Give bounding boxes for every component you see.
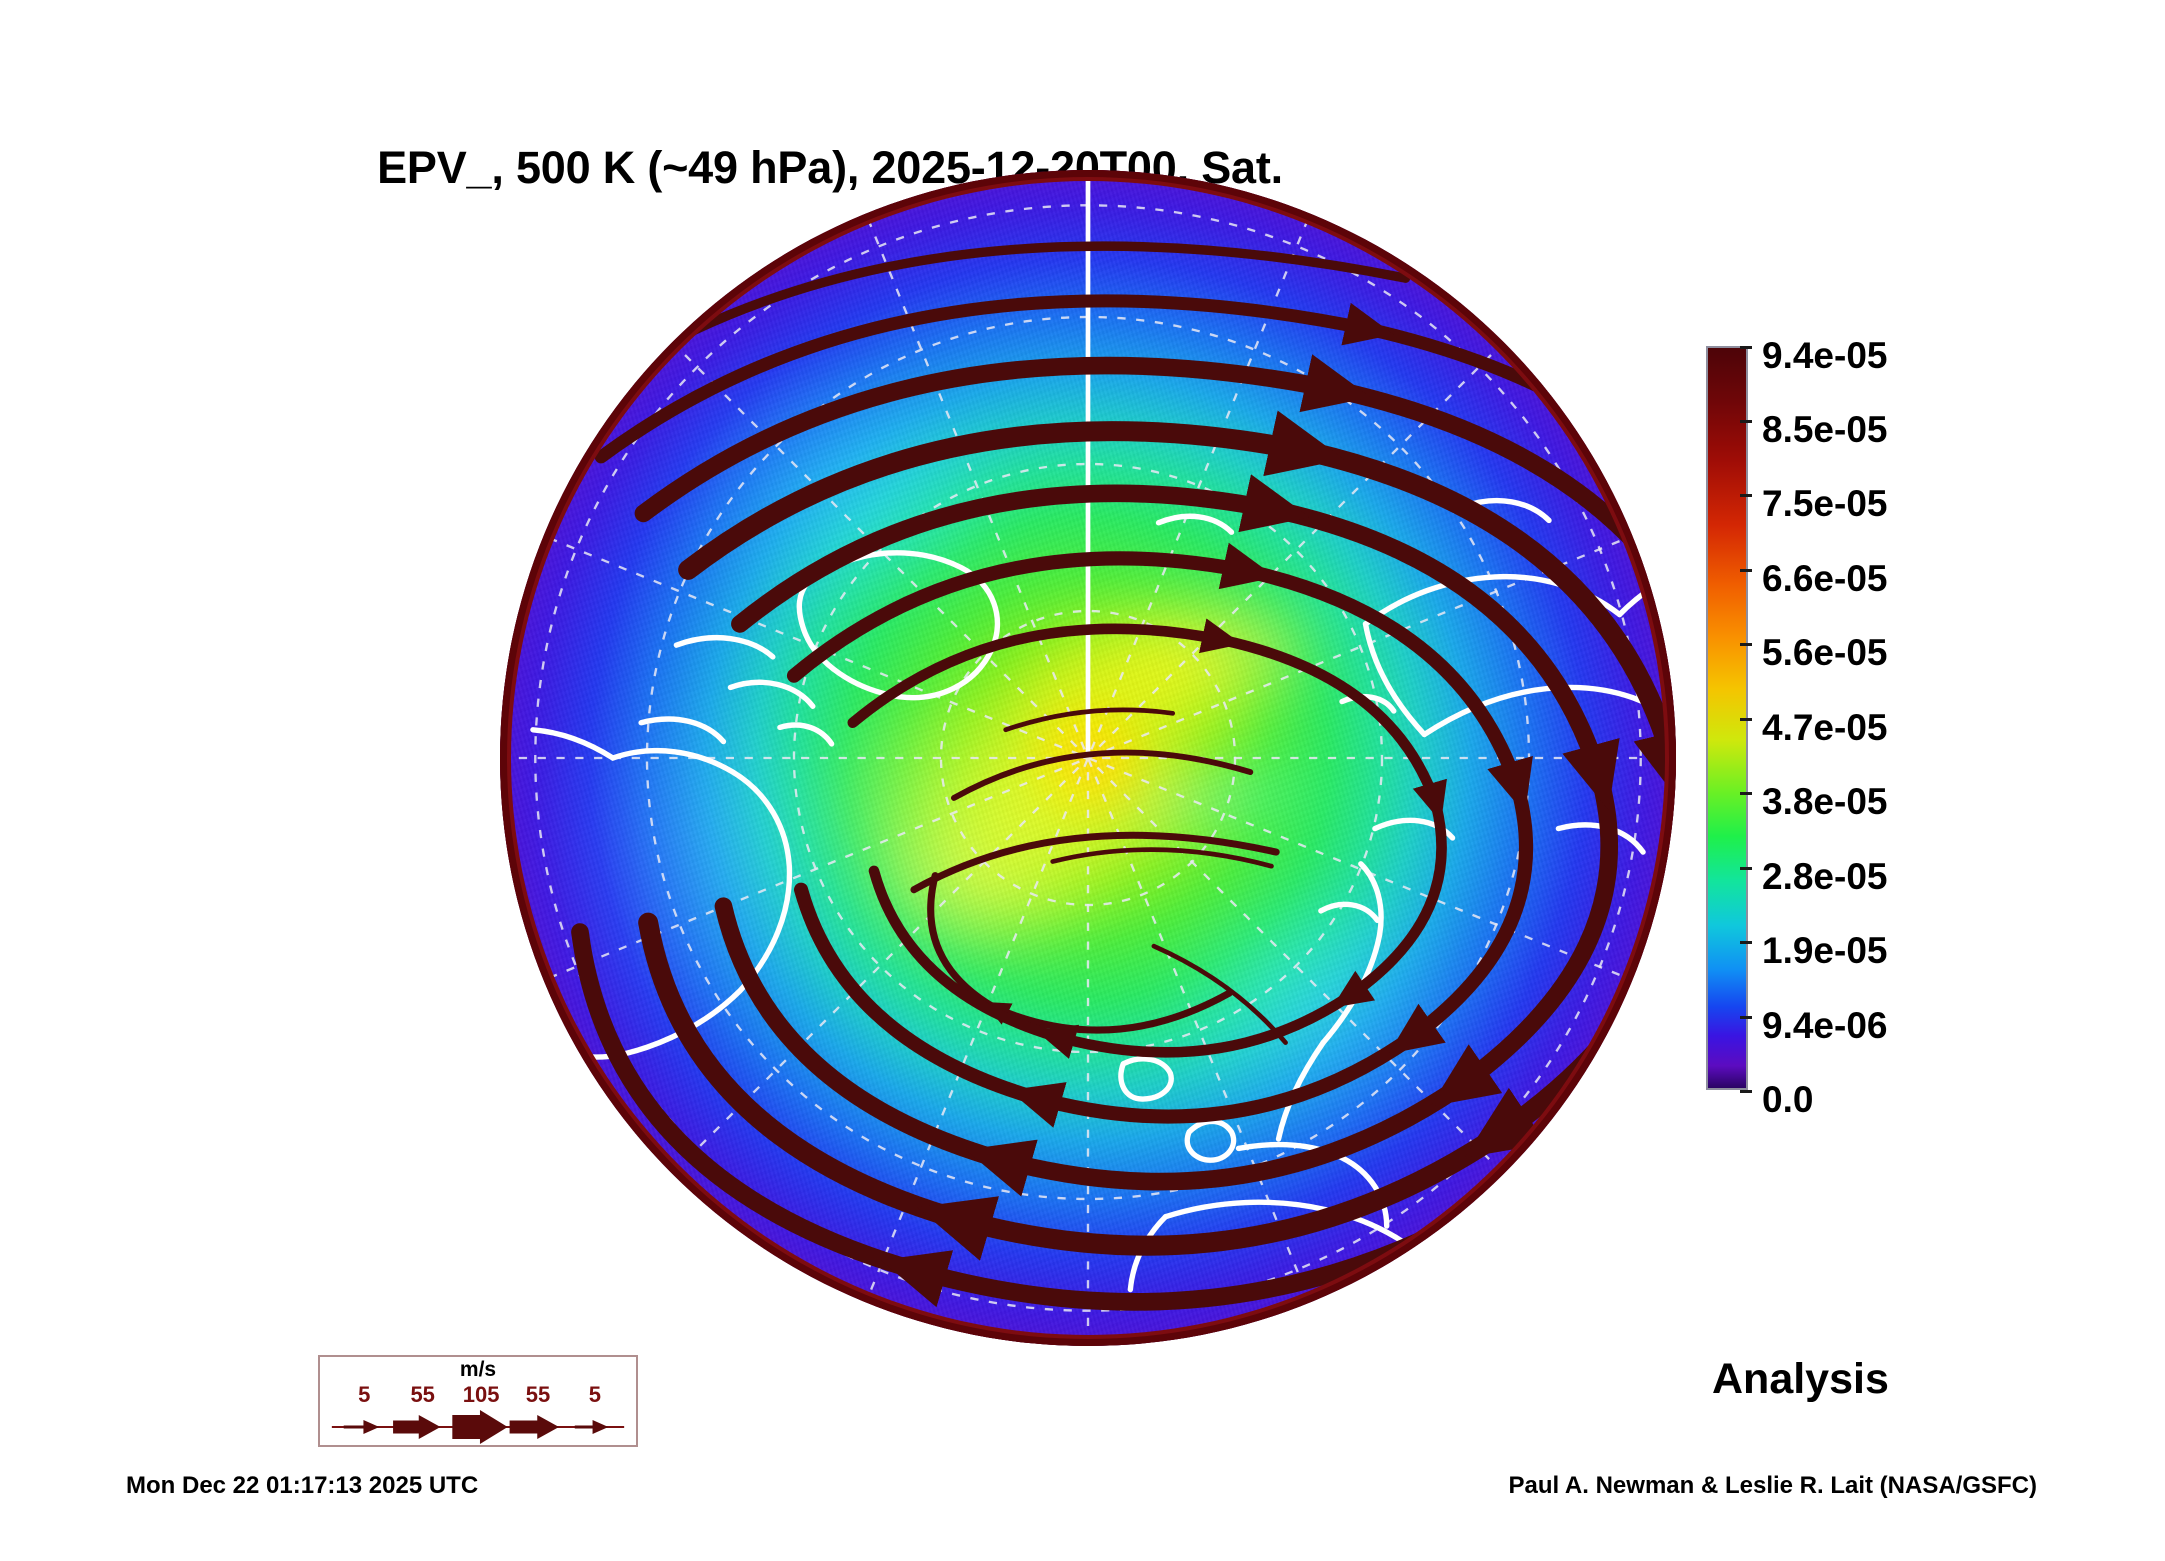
colorbar-tick <box>1740 867 1752 870</box>
colorbar-tick <box>1740 346 1752 349</box>
wind-streamlines <box>547 246 1676 1346</box>
colorbar-label: 2.8e-05 <box>1762 856 1888 898</box>
wind-legend-unit-label: m/s <box>320 1358 636 1382</box>
colorbar-tick <box>1740 643 1752 646</box>
polar-map-panel <box>500 170 1676 1346</box>
wind-legend-arrow-scale <box>320 1409 636 1445</box>
wind-legend-value: 105 <box>463 1382 500 1408</box>
wind-legend-value: 5 <box>589 1382 601 1408</box>
generation-timestamp: Mon Dec 22 01:17:13 2025 UTC <box>126 1472 478 1500</box>
colorbar-tick <box>1740 1090 1752 1093</box>
wind-legend-value: 55 <box>410 1382 434 1408</box>
colorbar-label: 0.0 <box>1762 1079 1813 1121</box>
colorbar-tick <box>1740 718 1752 721</box>
colorbar-label: 1.9e-05 <box>1762 930 1888 972</box>
colorbar-label: 4.7e-05 <box>1762 707 1888 749</box>
colorbar-tick <box>1740 792 1752 795</box>
colorbar-label: 8.5e-05 <box>1762 409 1888 451</box>
analysis-label: Analysis <box>1712 1355 1889 1404</box>
colorbar-tick <box>1740 1016 1752 1019</box>
wind-legend-value: 55 <box>526 1382 550 1408</box>
author-credit: Paul A. Newman & Leslie R. Lait (NASA/GS… <box>1508 1472 2037 1500</box>
colorbar-tick <box>1740 569 1752 572</box>
wind-speed-legend: m/s 5 55 105 55 5 <box>318 1355 638 1447</box>
colorbar-label: 7.5e-05 <box>1762 483 1888 525</box>
colorbar-tick <box>1740 941 1752 944</box>
map-vector-overlay <box>500 170 1676 1346</box>
colorbar-label: 9.4e-05 <box>1762 335 1888 377</box>
wind-legend-value: 5 <box>358 1382 370 1408</box>
colorbar-tick <box>1740 494 1752 497</box>
colorbar-label: 9.4e-06 <box>1762 1005 1888 1047</box>
colorbar-label: 6.6e-05 <box>1762 558 1888 600</box>
colorbar-label: 3.8e-05 <box>1762 781 1888 823</box>
colorbar-label: 5.6e-05 <box>1762 632 1888 674</box>
epv-heatmap-disk <box>500 170 1676 1346</box>
colorbar-tick <box>1740 420 1752 423</box>
